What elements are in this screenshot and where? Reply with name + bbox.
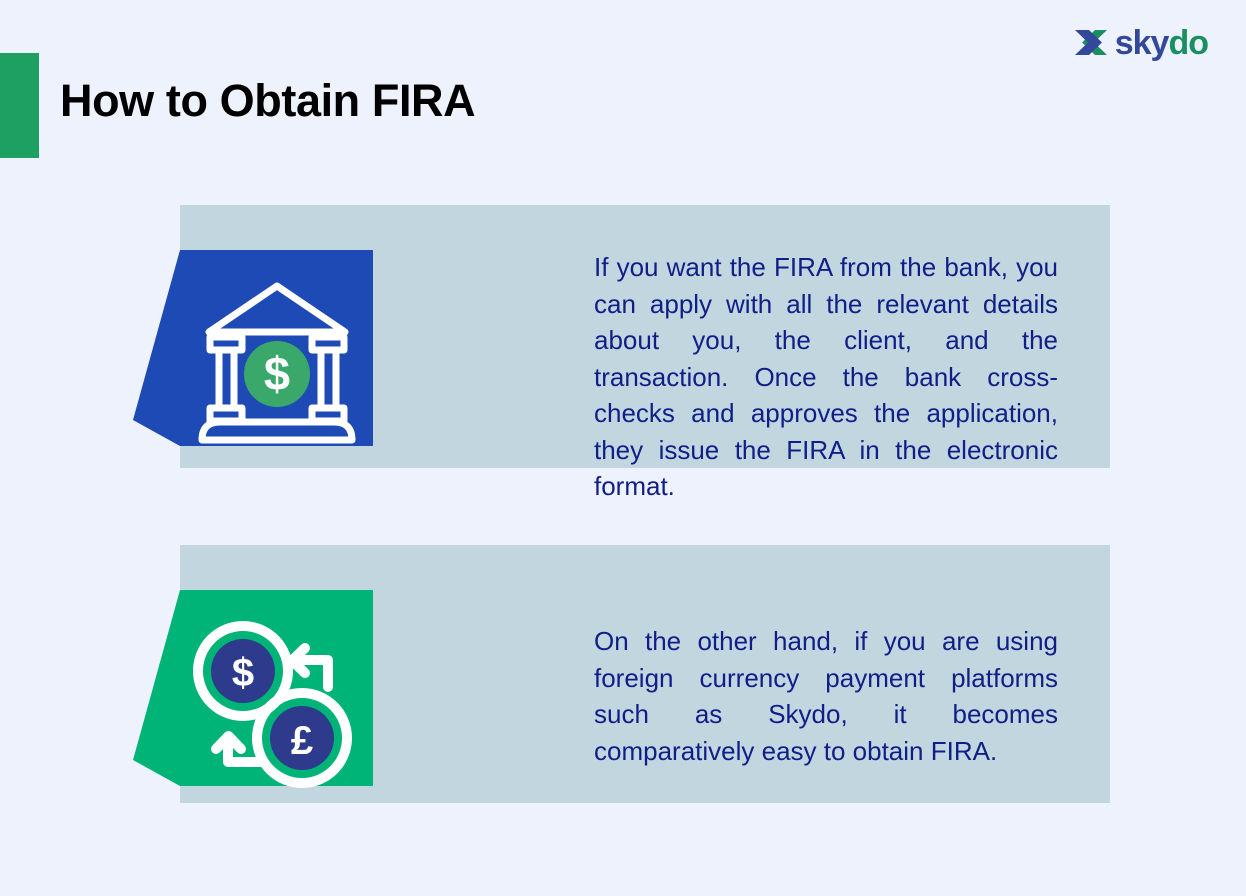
skydo-chevron-icon <box>1073 27 1109 59</box>
svg-text:$: $ <box>264 347 290 400</box>
logo-word-do: do <box>1168 24 1208 62</box>
info-card-bank: $ If you want the FIRA from the bank, yo… <box>180 205 1110 468</box>
card-exchange-body-text: On the other hand, if you are using fore… <box>594 623 1058 769</box>
logo-wordmark: skydo <box>1115 26 1208 60</box>
info-card-exchange: $ £ On the other hand, if you are using … <box>180 545 1110 803</box>
logo-word-sky: sky <box>1115 24 1169 62</box>
card-bank-body-text: If you want the FIRA from the bank, you … <box>594 249 1058 505</box>
title-accent-bar <box>0 53 39 158</box>
svg-text:$: $ <box>232 651 254 695</box>
exchange-panel: $ £ <box>133 590 373 830</box>
bank-panel: $ <box>133 250 373 490</box>
page-title: How to Obtain FIRA <box>60 78 475 123</box>
svg-text:£: £ <box>291 719 313 763</box>
skydo-logo: skydo <box>1073 26 1208 60</box>
